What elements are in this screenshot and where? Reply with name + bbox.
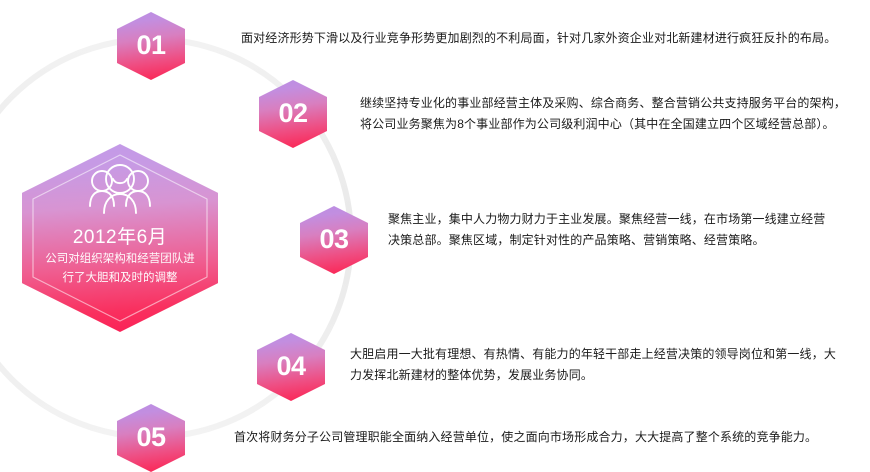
team-group-icon [84, 162, 156, 220]
infographic-canvas: 2012年6月 公司对组织架构和经营团队进 行了大胆和及时的调整 01 02 0… [0, 0, 870, 470]
step-text-04: 大胆启用一大批有理想、有热情、有能力的年轻干部走上经营决策的领导岗位和第一线，大… [350, 344, 836, 386]
main-hexagon[interactable]: 2012年6月 公司对组织架构和经营团队进 行了大胆和及时的调整 [22, 144, 218, 332]
step-hexagon-04-number: 04 [257, 333, 325, 401]
step-hexagon-03[interactable]: 03 [300, 206, 368, 274]
step-hexagon-03-number: 03 [300, 206, 368, 274]
step-hexagon-04[interactable]: 04 [257, 333, 325, 401]
step-text-01: 面对经济形势下滑以及行业竞争形势更加剧烈的不利局面，针对几家外资企业对北新建材进… [241, 28, 836, 49]
main-hexagon-content: 2012年6月 公司对组织架构和经营团队进 行了大胆和及时的调整 [22, 144, 218, 332]
step-text-05: 首次将财务分子公司管理职能全面纳入经营单位，使之面向市场形成合力，大大提高了整个… [234, 427, 817, 448]
step-hexagon-02[interactable]: 02 [259, 80, 327, 148]
step-hexagon-02-number: 02 [259, 80, 327, 148]
step-text-03: 聚焦主业，集中人力物力财力于主业发展。聚焦经营一线，在市场第一线建立经营 决策总… [388, 209, 825, 251]
step-hexagon-05[interactable]: 05 [117, 404, 185, 472]
step-hexagon-01[interactable]: 01 [117, 12, 185, 80]
step-hexagon-01-number: 01 [117, 12, 185, 80]
step-text-02: 继续坚持专业化的事业部经营主体及采购、综合商务、整合营销公共支持服务平台的架构，… [360, 93, 846, 135]
step-hexagon-05-number: 05 [117, 404, 185, 472]
main-hexagon-date: 2012年6月 [73, 226, 167, 250]
main-hexagon-description: 公司对组织架构和经营团队进 行了大胆和及时的调整 [45, 250, 195, 288]
